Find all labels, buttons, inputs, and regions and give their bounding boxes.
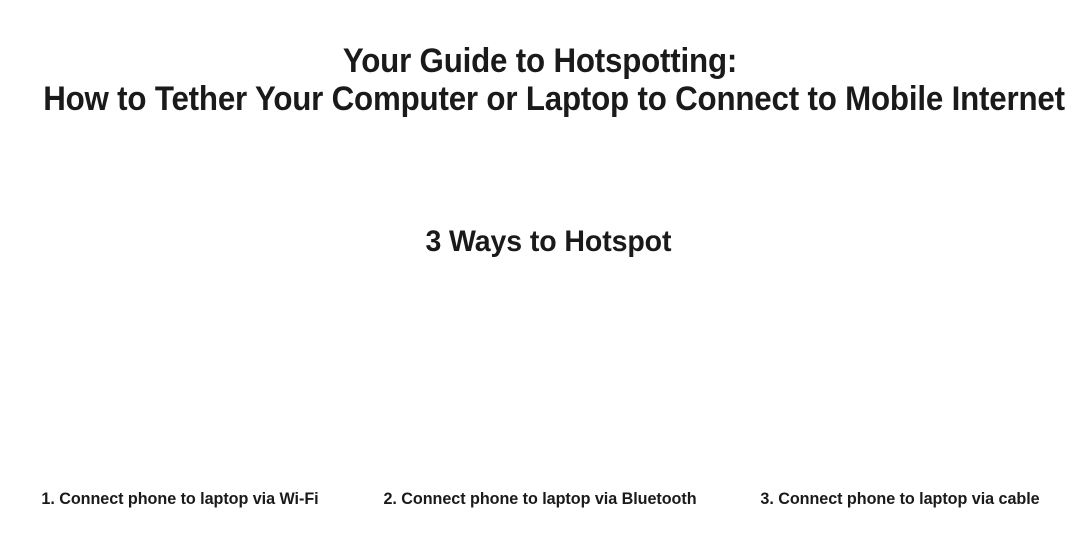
caption-method-2: 2. Connect phone to laptop via Bluetooth: [369, 488, 711, 510]
illustration-bluetooth: [360, 280, 720, 475]
illustration-cable: [720, 280, 1080, 475]
page-title: Your Guide to Hotspotting: How to Tether…: [0, 42, 1080, 118]
illustration-wifi: [0, 280, 360, 475]
illustration-row: [0, 280, 1080, 475]
caption-row: 1. Connect phone to laptop via Wi-Fi 2. …: [0, 488, 1080, 510]
caption-method-3: 3. Connect phone to laptop via cable: [729, 488, 1071, 510]
caption-method-1: 1. Connect phone to laptop via Wi-Fi: [9, 488, 351, 510]
section-heading: 3 Ways to Hotspot: [0, 224, 1080, 260]
section-heading-text: 3 Ways to Hotspot: [425, 224, 671, 260]
page-title-line-2: How to Tether Your Computer or Laptop to…: [43, 80, 1037, 118]
page-title-line-1: Your Guide to Hotspotting:: [43, 42, 1037, 80]
infographic-page: Your Guide to Hotspotting: How to Tether…: [0, 0, 1080, 552]
